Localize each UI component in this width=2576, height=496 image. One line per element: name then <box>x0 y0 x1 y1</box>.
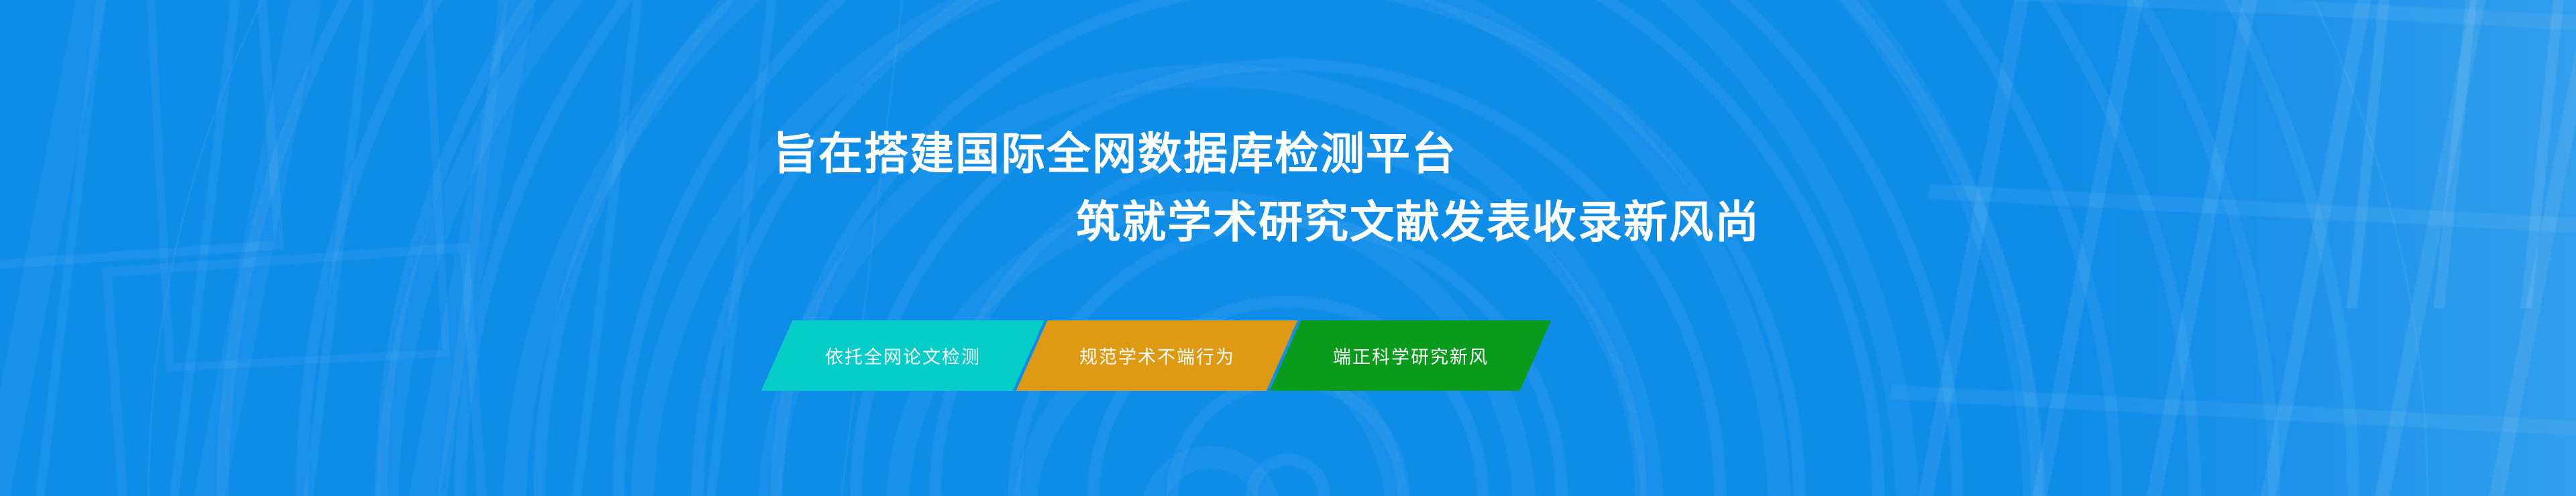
headline-line-1: 旨在搭建国际全网数据库检测平台 <box>773 131 2576 176</box>
feature-tag-2-label: 端正科学研究新风 <box>1333 343 1489 369</box>
banner-headline: 旨在搭建国际全网数据库检测平台 筑就学术研究文献发表收录新风尚 <box>0 0 2576 244</box>
bottom-left-outline-box-decoration <box>102 243 493 496</box>
feature-tag-1-label: 规范学术不端行为 <box>1079 343 1235 369</box>
feature-tag-strip: 依托全网论文检测 规范学术不端行为 端正科学研究新风 <box>777 320 1536 391</box>
feature-tag-0[interactable]: 依托全网论文检测 <box>761 320 1044 391</box>
promo-banner: 旨在搭建国际全网数据库检测平台 筑就学术研究文献发表收录新风尚 依托全网论文检测… <box>0 0 2576 496</box>
feature-tag-2[interactable]: 端正科学研究新风 <box>1270 320 1552 391</box>
headline-line-2: 筑就学术研究文献发表收录新风尚 <box>1076 200 2576 244</box>
feature-tag-0-label: 依托全网论文检测 <box>825 343 981 369</box>
feature-tag-1[interactable]: 规范学术不端行为 <box>1016 320 1298 391</box>
